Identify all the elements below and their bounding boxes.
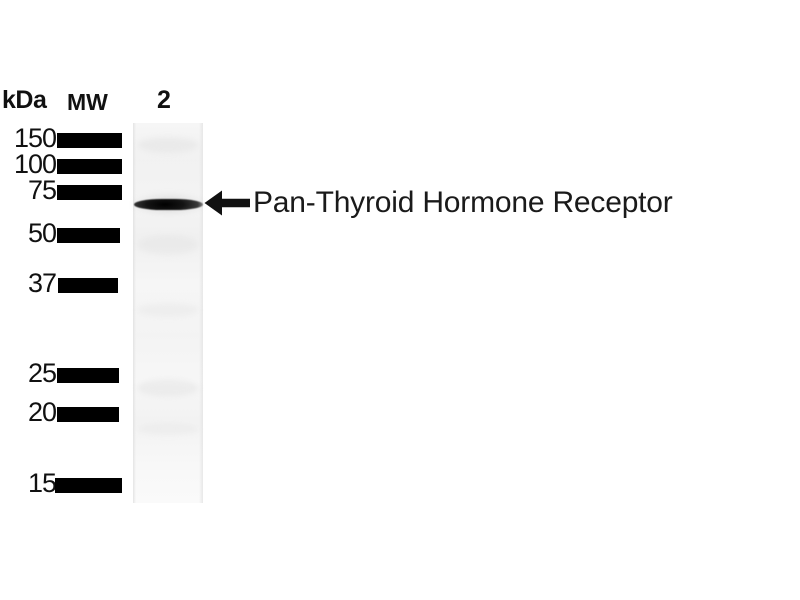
ladder-marker-bar [57, 185, 122, 200]
lane-background-smudge [137, 235, 199, 255]
lane-background-smudge [137, 423, 199, 435]
lane-background-smudge [137, 137, 199, 153]
lane-right-edge [199, 123, 203, 503]
lane-background-smudge [137, 303, 199, 317]
ladder-marker-bar [57, 368, 119, 383]
ladder-marker-bar [57, 159, 122, 174]
western-blot-figure: kDa MW 2 150100755037252015 Pan-Thyroid … [0, 0, 800, 600]
ladder-marker-label: 150 [14, 125, 56, 152]
ladder-marker-label: 100 [14, 151, 56, 178]
ladder-marker-bar [57, 133, 122, 148]
ladder-marker-label: 25 [28, 360, 56, 387]
ladder-marker-label: 20 [28, 399, 56, 426]
ladder-marker-label: 15 [28, 470, 56, 497]
left-arrow-icon [203, 186, 251, 220]
ladder-marker-bar [55, 478, 122, 493]
sample-lane-2 [133, 123, 203, 503]
lane-background-smudge [137, 379, 199, 397]
lane-left-edge [133, 123, 136, 503]
ladder-marker-bar [58, 278, 118, 293]
ladder-marker-bar [57, 228, 120, 243]
ladder-marker-bar [57, 407, 119, 422]
ladder-marker-label: 75 [28, 177, 56, 204]
ladder-marker-label: 50 [28, 220, 56, 247]
annotation-label: Pan-Thyroid Hormone Receptor [253, 186, 673, 220]
band-annotation: Pan-Thyroid Hormone Receptor [203, 186, 673, 220]
pan-thyroid-hormone-receptor-band [134, 199, 203, 210]
molecular-weight-ladder: 150100755037252015 [0, 0, 130, 600]
lane-2-header: 2 [157, 88, 171, 113]
ladder-marker-label: 37 [28, 270, 56, 297]
